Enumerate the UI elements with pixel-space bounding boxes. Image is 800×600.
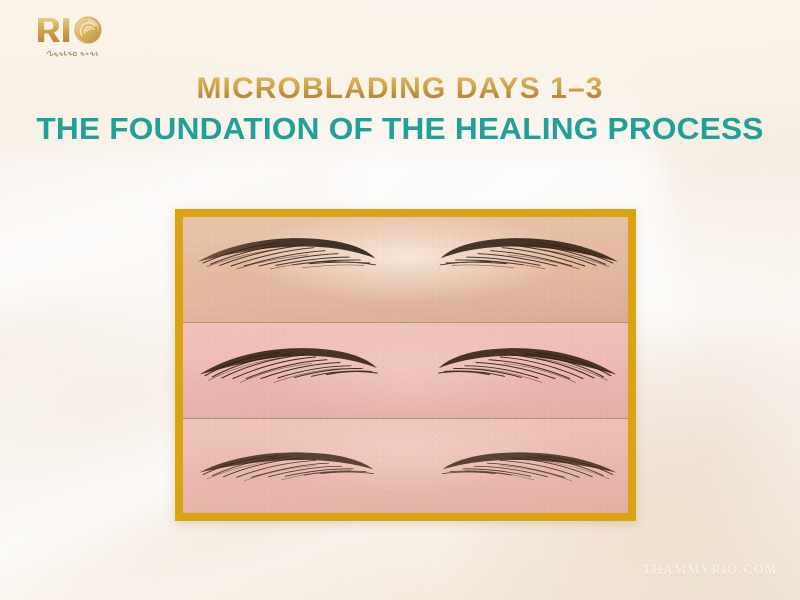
eyebrow-right bbox=[437, 223, 624, 282]
eyebrow-photo-frame[interactable] bbox=[175, 209, 636, 521]
headline-line-1: MICROBLADING DAYS 1–3 bbox=[0, 72, 800, 106]
headline-line-2: THE FOUNDATION OF THE HEALING PROCESS bbox=[0, 111, 800, 147]
photo-panel-day-1 bbox=[183, 217, 628, 322]
headline-block: MICROBLADING DAYS 1–3 THE FOUNDATION OF … bbox=[0, 72, 800, 147]
eyebrow-left bbox=[192, 223, 379, 282]
logo-letters bbox=[38, 18, 69, 42]
site-watermark: THAMMYRIO.COM bbox=[643, 562, 778, 578]
photo-panel-stack bbox=[183, 217, 628, 513]
eyebrow-right bbox=[437, 336, 624, 391]
brand-logo[interactable] bbox=[14, 8, 134, 60]
eyebrow-left bbox=[192, 440, 379, 492]
photo-panel-day-2 bbox=[183, 322, 628, 418]
photo-panel-day-3 bbox=[183, 418, 628, 513]
eyebrow-left bbox=[192, 336, 379, 391]
logo-tagline bbox=[47, 51, 98, 56]
eyebrow-right bbox=[437, 440, 624, 492]
poster-canvas: MICROBLADING DAYS 1–3 THE FOUNDATION OF … bbox=[0, 0, 800, 600]
rose-icon bbox=[75, 17, 101, 43]
